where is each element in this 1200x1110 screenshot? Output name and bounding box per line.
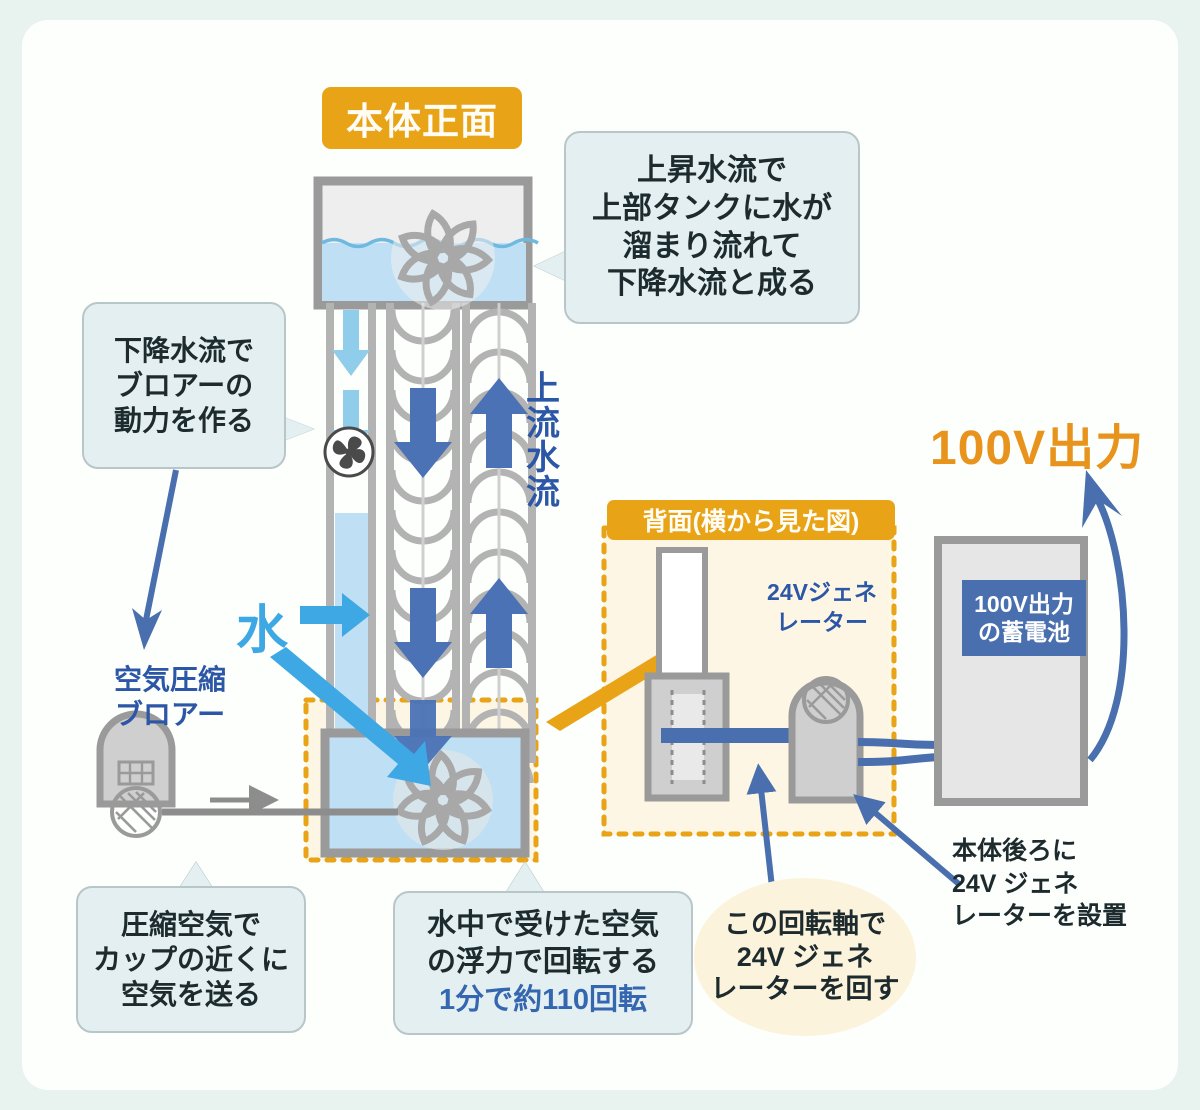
label-water: 水 — [236, 588, 288, 663]
callout-line: 24V ジェネ — [737, 941, 874, 974]
label-air-compressor-blower: 空気圧縮 ブロアー — [72, 662, 268, 732]
cup-belt-ascending — [468, 303, 530, 800]
callout-line: 上部タンクに水が — [592, 190, 832, 228]
callout-line: 空気を送る — [121, 977, 261, 1012]
label-line: レーター — [742, 608, 902, 638]
label-line: 24V ジェネ — [952, 868, 1172, 901]
label-upstream-flow: 上 流 水 流 — [523, 372, 563, 511]
section-chip-front: 本体正面 — [322, 87, 522, 149]
left-callout-guide — [132, 470, 176, 650]
rotation-rate-value: 1分で約110回転 — [439, 982, 647, 1019]
label-line: 本体後ろに — [952, 835, 1172, 868]
column-frames — [326, 303, 536, 763]
label-line: 24Vジェネ — [742, 578, 902, 608]
callout-line: 水中で受けた空気 — [427, 907, 659, 944]
callout-compressed-air: 圧縮空気で カップの近くに 空気を送る — [76, 886, 306, 1033]
generator-24v — [792, 678, 860, 800]
output-arrow — [1082, 470, 1124, 760]
turbine-wheel-top-icon — [391, 206, 495, 310]
callout-line: 動力を作る — [114, 403, 254, 438]
label-line: 100V出力 — [974, 590, 1074, 618]
label-char: 流 — [523, 476, 563, 511]
section-chip-back: 背面(横から見た図) — [607, 500, 895, 540]
callout-tail-rotation — [505, 862, 545, 894]
label-line: レーターを設置 — [952, 900, 1172, 933]
label-char: 水 — [523, 441, 563, 476]
label-line: ブロアー — [72, 697, 268, 732]
label-battery: 100V出力 の蓄電池 — [962, 580, 1086, 656]
callout-line: 下降水流で — [114, 333, 254, 368]
diagram-stage: 本体正面 背面(横から見た図) 上昇水流で 上部タンクに水が 溜まり流れて 下降… — [0, 0, 1200, 1110]
label-char: 流 — [523, 407, 563, 442]
label-line: 空気圧縮 — [72, 662, 268, 697]
callout-rotation: 水中で受けた空気 の浮力で回転する 1分で約110回転 — [393, 891, 693, 1035]
fan-icon — [325, 428, 373, 476]
callout-shaft-drive: この回転軸で 24V ジェネ レーターを回す — [694, 878, 916, 1036]
callout-tail-top — [534, 250, 568, 282]
label-char: 上 — [523, 372, 563, 407]
callout-upflow-tank: 上昇水流で 上部タンクに水が 溜まり流れて 下降水流と成る — [564, 131, 860, 324]
callout-line: カップの近くに — [93, 942, 289, 977]
callout-line: レーターを回す — [711, 973, 900, 1006]
callout-line: 上昇水流で — [637, 152, 787, 190]
callout-line: の浮力で回転する — [427, 944, 659, 981]
callout-line: 溜まり流れて — [622, 228, 801, 266]
callout-line: 圧縮空気で — [121, 907, 261, 942]
callout-line: ブロアーの — [115, 368, 253, 403]
label-24v-generator: 24Vジェネ レーター — [742, 578, 902, 638]
label-generator-install-note: 本体後ろに 24V ジェネ レーターを設置 — [952, 835, 1172, 933]
callout-downflow-power: 下降水流で ブロアーの 動力を作る — [82, 302, 286, 469]
label-100v-output-title: 100V出力 — [930, 408, 1144, 478]
callout-line: この回転軸で — [724, 908, 886, 941]
callout-line: 下降水流と成る — [607, 265, 817, 303]
label-line: の蓄電池 — [978, 618, 1070, 646]
